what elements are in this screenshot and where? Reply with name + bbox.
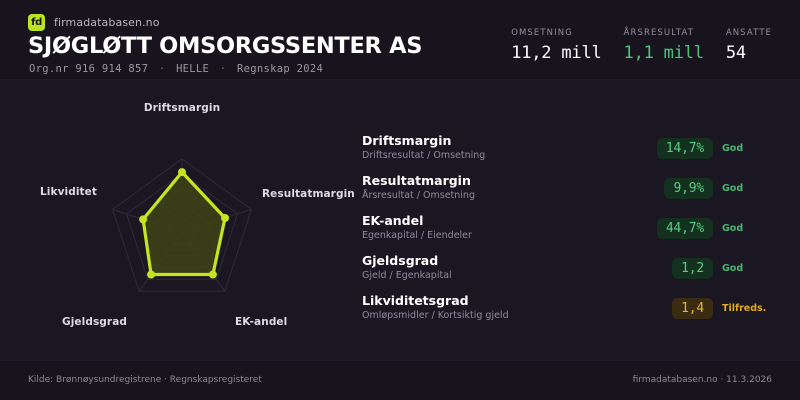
- metric-formula: Gjeld / Egenkapital: [362, 269, 634, 283]
- infographic-card: fd firmadatabasen.no SJØGLØTT OMSORGSSEN…: [0, 0, 800, 400]
- brand-site-name: firmadatabasen.no: [54, 16, 160, 29]
- company-meta: Org.nr 916 914 857 · HELLE · Regnskap 20…: [29, 63, 323, 75]
- stat-label: OMSETNING: [511, 28, 601, 38]
- radar-chart: Driftsmargin Resultatmargin EK-andel Gje…: [0, 80, 355, 360]
- metric-texts: Gjeldsgrad Gjeld / Egenkapital: [362, 253, 634, 283]
- radar-series-area: [143, 172, 225, 274]
- status-badge: God: [722, 143, 774, 154]
- metric-right: 14,7% God: [634, 138, 774, 159]
- firmadatabasen-logo-icon: fd: [28, 14, 45, 31]
- metrics-list: Driftsmargin Driftsresultat / Omsetning …: [362, 128, 774, 328]
- footer-source: Kilde: Brønnøysundregistrene · Regnskaps…: [28, 375, 262, 385]
- stat-label: ANSATTE: [726, 28, 772, 38]
- meta-separator-1: ·: [155, 63, 170, 75]
- meta-separator-2: ·: [216, 63, 231, 75]
- metric-row: Likviditetsgrad Omløpsmidler / Kortsikti…: [362, 288, 774, 328]
- header-stats: OMSETNING 11,2 mill ÅRSRESULTAT 1,1 mill…: [511, 28, 772, 63]
- page-title: SJØGLØTT OMSORGSSENTER AS: [28, 33, 422, 59]
- radar-point: [221, 214, 229, 222]
- metric-value-pill: 1,4: [672, 298, 713, 319]
- status-badge: God: [722, 223, 774, 234]
- radar-chart-svg: [0, 80, 355, 360]
- metric-formula: Egenkapital / Eiendeler: [362, 229, 634, 243]
- metric-value-pill: 1,2: [672, 258, 713, 279]
- metric-row: EK-andel Egenkapital / Eiendeler 44,7% G…: [362, 208, 774, 248]
- metric-right: 1,4 Tilfreds.: [634, 298, 774, 319]
- header-bar: fd firmadatabasen.no SJØGLØTT OMSORGSSEN…: [0, 0, 800, 80]
- metric-value-pill: 9,9%: [664, 178, 713, 199]
- radar-point: [209, 271, 217, 279]
- metric-name: Gjeldsgrad: [362, 253, 634, 268]
- metric-texts: Driftsmargin Driftsresultat / Omsetning: [362, 133, 634, 163]
- metric-right: 44,7% God: [634, 218, 774, 239]
- status-badge: God: [722, 183, 774, 194]
- metric-texts: EK-andel Egenkapital / Eiendeler: [362, 213, 634, 243]
- metric-row: Driftsmargin Driftsresultat / Omsetning …: [362, 128, 774, 168]
- metric-row: Gjeldsgrad Gjeld / Egenkapital 1,2 God: [362, 248, 774, 288]
- metric-formula: Omløpsmidler / Kortsiktig gjeld: [362, 309, 634, 323]
- radar-point: [178, 168, 186, 176]
- stat-value: 11,2 mill: [511, 43, 601, 63]
- footer-bar: Kilde: Brønnøysundregistrene · Regnskaps…: [0, 360, 800, 400]
- radar-axis-label-likviditet: Likviditet: [40, 186, 97, 198]
- footer-attribution: firmadatabasen.no · 11.3.2026: [633, 375, 772, 385]
- stat-value: 1,1 mill: [624, 43, 704, 63]
- metric-name: Likviditetsgrad: [362, 293, 634, 308]
- metric-value-pill: 44,7%: [657, 218, 713, 239]
- metric-row: Resultatmargin Årsresultat / Omsetning 9…: [362, 168, 774, 208]
- brand[interactable]: fd firmadatabasen.no: [28, 14, 160, 31]
- accounting-year: Regnskap 2024: [237, 63, 323, 75]
- radar-axis-label-resultatmargin: Resultatmargin: [262, 188, 355, 200]
- stat-omsetning: OMSETNING 11,2 mill: [511, 28, 601, 63]
- metric-name: Driftsmargin: [362, 133, 634, 148]
- status-badge: Tilfreds.: [722, 303, 774, 314]
- status-badge: God: [722, 263, 774, 274]
- radar-axis-label-gjeldsgrad: Gjeldsgrad: [62, 316, 127, 328]
- metric-formula: Driftsresultat / Omsetning: [362, 149, 634, 163]
- stat-label: ÅRSRESULTAT: [624, 28, 704, 38]
- metric-name: EK-andel: [362, 213, 634, 228]
- radar-axis-label-driftsmargin: Driftsmargin: [144, 102, 220, 114]
- metric-texts: Likviditetsgrad Omløpsmidler / Kortsikti…: [362, 293, 634, 323]
- metric-right: 9,9% God: [634, 178, 774, 199]
- stat-ansatte: ANSATTE 54: [726, 28, 772, 63]
- stat-arsresultat: ÅRSRESULTAT 1,1 mill: [624, 28, 704, 63]
- company-location: HELLE: [176, 63, 209, 75]
- radar-point: [139, 215, 147, 223]
- metric-texts: Resultatmargin Årsresultat / Omsetning: [362, 173, 634, 203]
- stat-value: 54: [726, 43, 772, 63]
- metric-name: Resultatmargin: [362, 173, 634, 188]
- metric-value-pill: 14,7%: [657, 138, 713, 159]
- metric-right: 1,2 God: [634, 258, 774, 279]
- org-number: Org.nr 916 914 857: [29, 63, 148, 75]
- metric-formula: Årsresultat / Omsetning: [362, 189, 634, 203]
- radar-axis-label-ek-andel: EK-andel: [235, 316, 287, 328]
- radar-point: [147, 271, 155, 279]
